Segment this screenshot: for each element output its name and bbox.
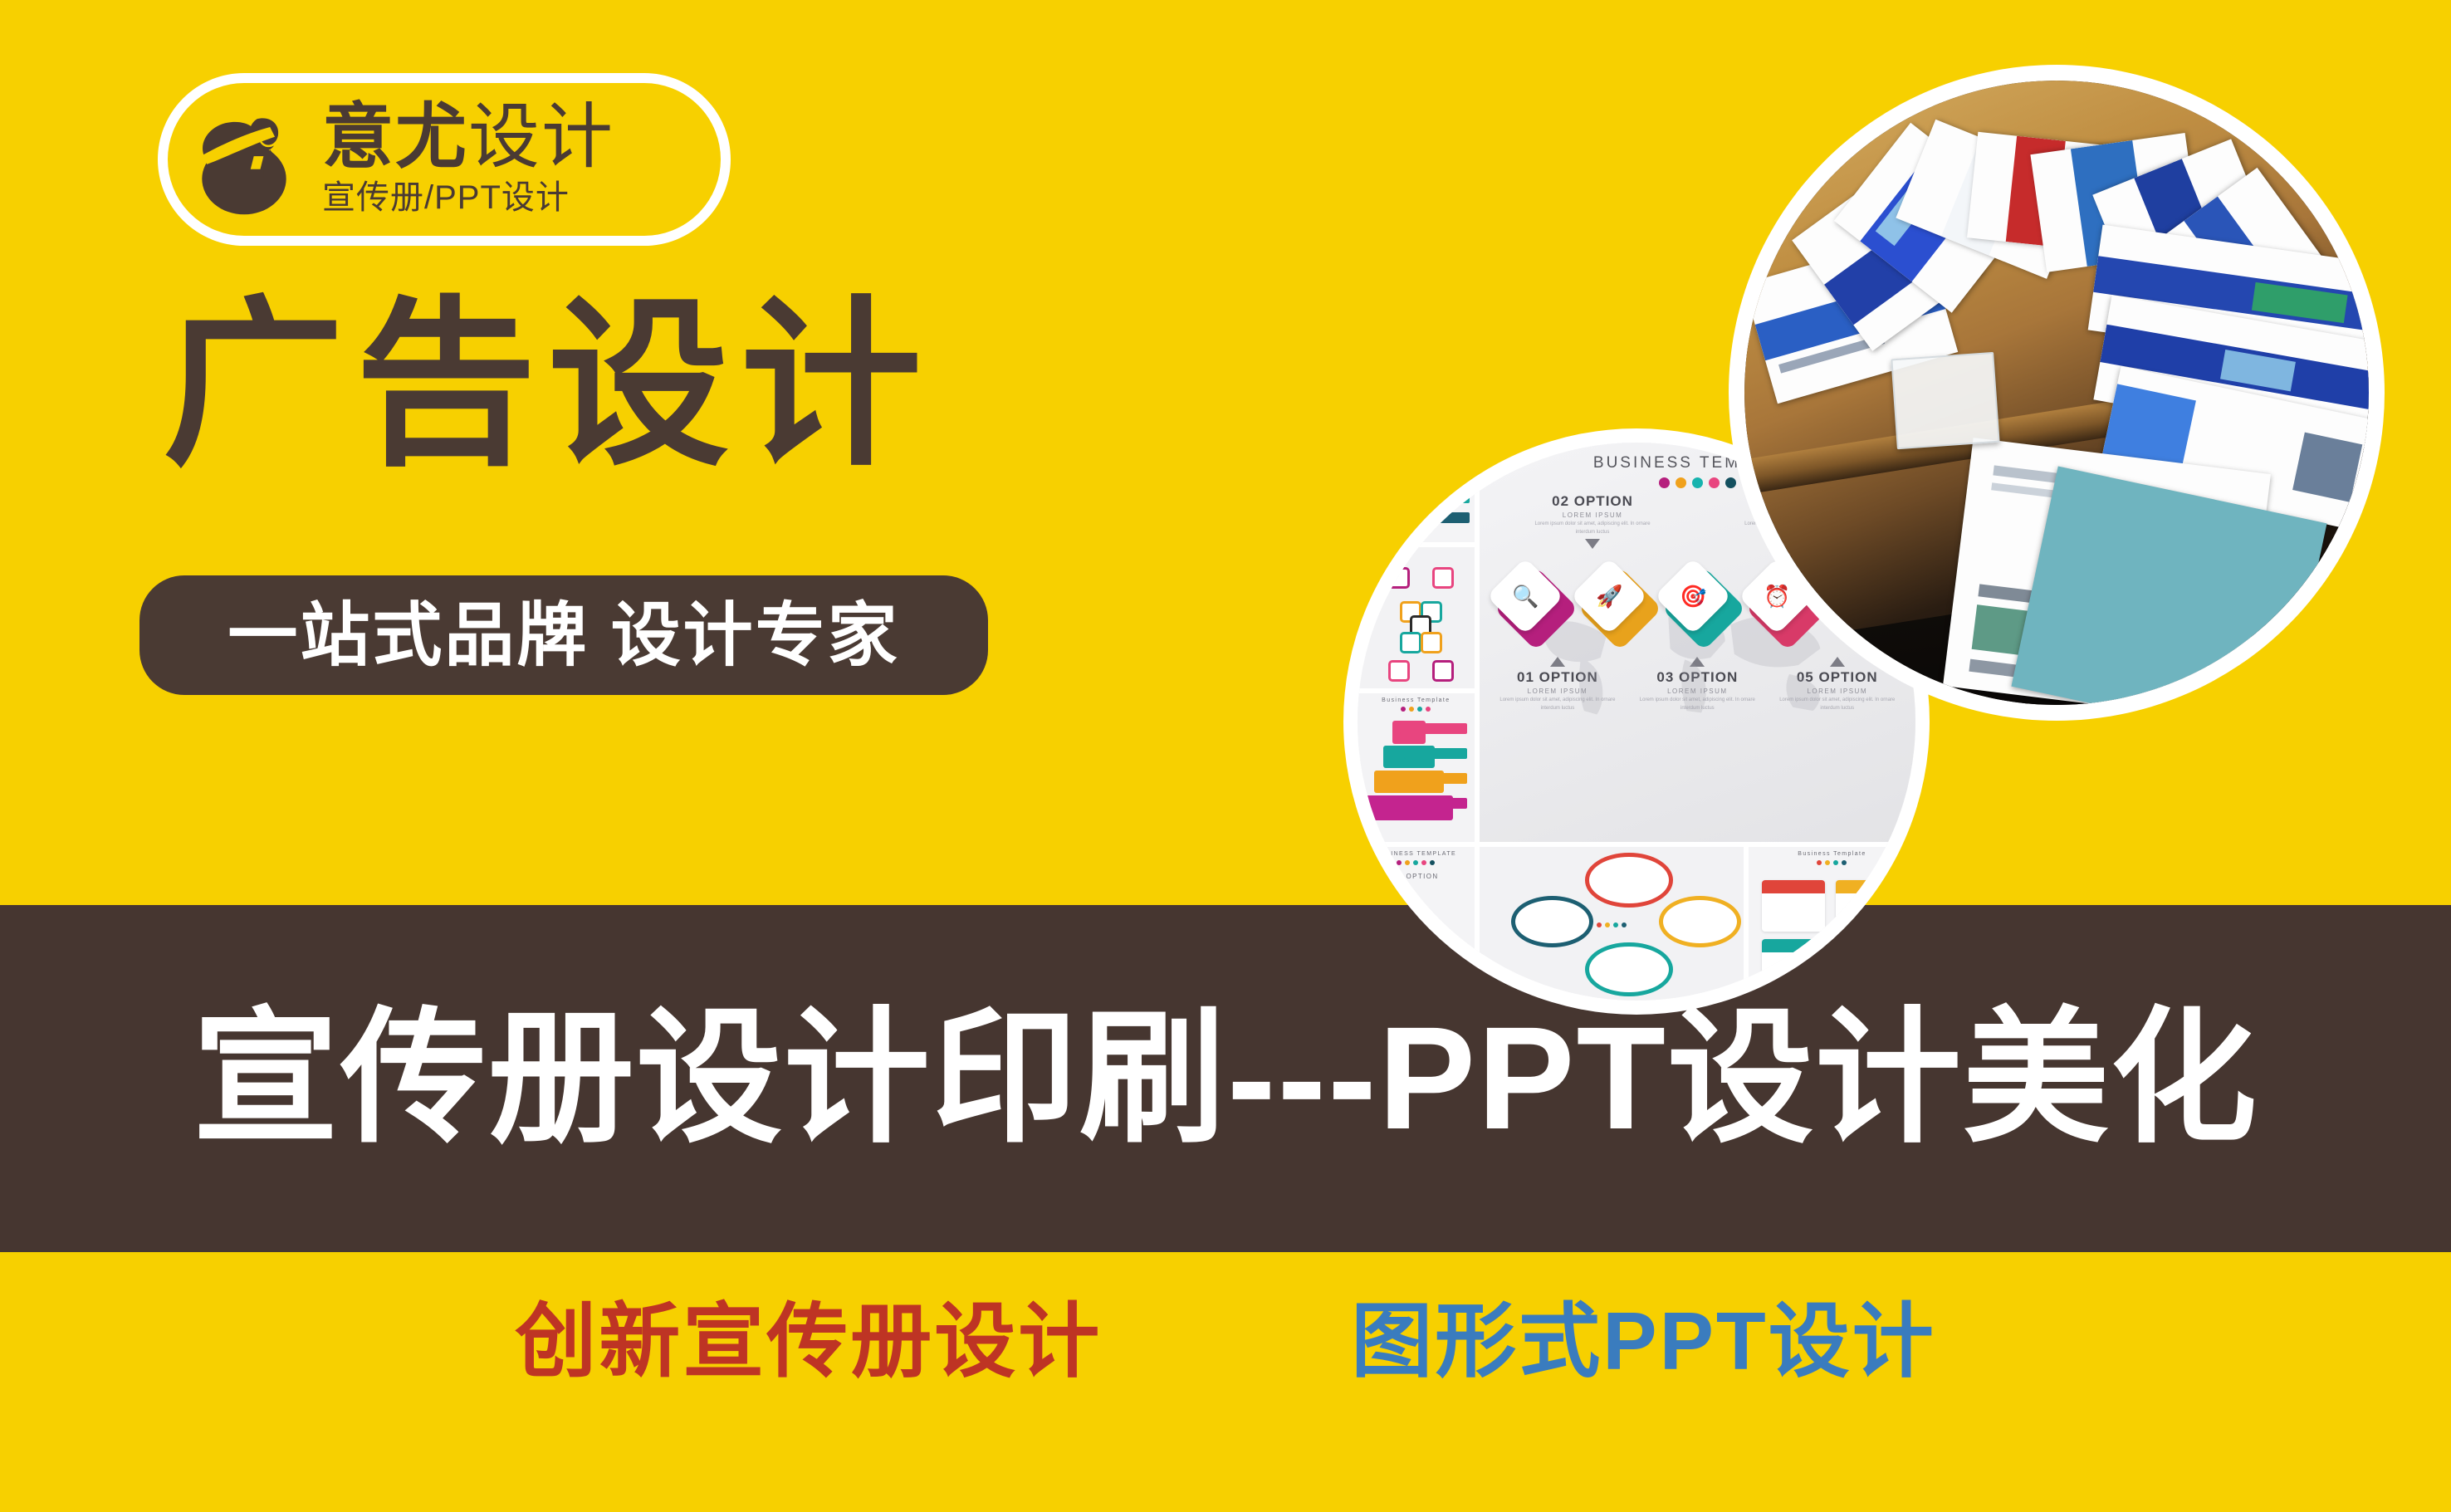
thumb-dot-row xyxy=(1358,707,1475,712)
target-icon: 🎯 xyxy=(1680,585,1706,607)
thumb-title: BUSINESS TEMPLATE xyxy=(1358,851,1475,857)
caption-row: 创新宣传册设计 图形式PPT设计 xyxy=(0,1283,2451,1399)
logo-brand-thin: 设计 xyxy=(468,97,614,177)
bean-sprout-logo-icon xyxy=(179,95,309,224)
option-lorem: LOREM IPSUM xyxy=(1530,511,1655,519)
pyramid-infographic-thumb: Business Template xyxy=(1358,693,1475,842)
pyramid-shape xyxy=(1358,717,1475,829)
diamond-node: 🚀 xyxy=(1575,564,1651,640)
business-card-holder xyxy=(1891,352,2001,450)
logo-brand-name: 意尤设计 xyxy=(322,102,614,172)
logo-text-block: 意尤设计 宣传册/PPT设计 xyxy=(322,102,614,217)
triangle-down-icon xyxy=(1585,539,1600,549)
ribbon-infographic-thumb xyxy=(1358,443,1475,542)
brand-logo-lockup: 意尤设计 宣传册/PPT设计 xyxy=(158,73,731,246)
caption-brochure-design: 创新宣传册设计 xyxy=(515,1300,1102,1382)
option-body: Lorem ipsum dolor sit amet, adipiscing e… xyxy=(1530,521,1655,536)
logo-subtitle: 宣传册/PPT设计 xyxy=(322,179,614,217)
thumb-dot-row xyxy=(1749,860,1915,865)
band-headline: 宣传册设计印刷---PPT设计美化 xyxy=(0,905,2451,1252)
cycle-node xyxy=(1585,853,1672,908)
printed-brochures-photo-circle xyxy=(1729,65,2385,721)
cross-node-infographic-thumb xyxy=(1358,547,1475,688)
logo-brand-bold: 意尤 xyxy=(322,97,468,177)
thumb-title: Business Template xyxy=(1358,697,1475,703)
option-number: 02 OPTION xyxy=(1530,493,1655,510)
diamond-node: 🔍 xyxy=(1491,564,1568,640)
thumb-dot-row xyxy=(1358,860,1475,865)
tagline-pill: 一站式品牌 设计专家 xyxy=(139,575,988,695)
caption-ppt-design: 图形式PPT设计 xyxy=(1351,1300,1936,1382)
option-label: 02 OPTION LOREM IPSUM Lorem ipsum dolor … xyxy=(1530,493,1655,549)
photo-inner xyxy=(1744,81,2369,705)
promo-banner: 意尤设计 宣传册/PPT设计 广告设计 一站式品牌 设计专家 xyxy=(0,0,2451,1512)
thumb-option-label: 04 OPTION xyxy=(1358,873,1475,880)
page-title: 广告设计 xyxy=(163,292,933,481)
diamond-node: 🎯 xyxy=(1659,564,1735,640)
tagline-text: 一站式品牌 设计专家 xyxy=(227,600,899,670)
thumb-title: Business Template xyxy=(1749,851,1915,857)
rocket-icon: 🚀 xyxy=(1596,585,1622,607)
magnifier-icon: 🔍 xyxy=(1512,585,1539,607)
